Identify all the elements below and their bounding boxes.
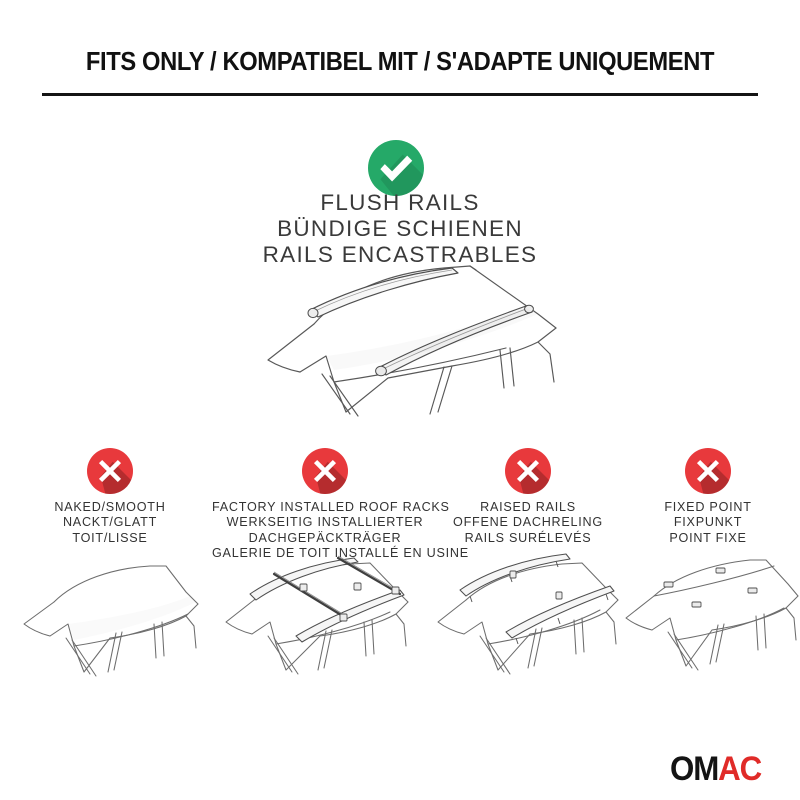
- option-label-line-fr: POINT FIXE: [622, 531, 794, 546]
- flush-rails-label-de: BÜNDIGE SCHIENEN: [0, 216, 800, 242]
- car-roof-bare-illustration: [10, 560, 210, 680]
- check-circle-icon: [368, 140, 424, 196]
- x-circle-icon: [685, 448, 731, 494]
- option-label-line-en: FIXED POINT: [622, 500, 794, 515]
- option-naked-smooth-label: NAKED/SMOOTH NACKT/GLATT TOIT/LISSE: [6, 500, 214, 546]
- page-title: FITS ONLY / KOMPATIBEL MIT / S'ADAPTE UN…: [28, 48, 772, 77]
- option-label-line-de: FIXPUNKT: [622, 515, 794, 530]
- flush-rails-label: FLUSH RAILS BÜNDIGE SCHIENEN RAILS ENCAS…: [0, 190, 800, 268]
- option-label-line-de: NACKT/GLATT: [6, 515, 214, 530]
- option-raised-rails-label: RAISED RAILS OFFENE DACHRELING RAILS SUR…: [434, 500, 622, 546]
- option-label-line-de-1: WERKSEITIG INSTALLIERTER: [212, 515, 438, 530]
- x-circle-icon: [505, 448, 551, 494]
- option-label-line-en: NAKED/SMOOTH: [6, 500, 214, 515]
- omac-logo-dark-part: OM: [670, 752, 718, 786]
- car-roof-with-raised-rails-illustration: [426, 544, 630, 680]
- car-roof-with-crossbars-illustration: [214, 544, 430, 680]
- flush-rails-label-en: FLUSH RAILS: [0, 190, 800, 216]
- compatibility-infographic: FITS ONLY / KOMPATIBEL MIT / S'ADAPTE UN…: [0, 0, 800, 800]
- x-icon-glyph: [685, 448, 731, 494]
- title-divider: [42, 93, 758, 96]
- x-icon-glyph: [505, 448, 551, 494]
- option-fixed-point-label: FIXED POINT FIXPUNKT POINT FIXE: [622, 500, 794, 546]
- car-roof-with-flush-rails-illustration: [238, 262, 582, 430]
- x-circle-icon: [87, 448, 133, 494]
- x-circle-icon: [302, 448, 348, 494]
- option-label-line-en: RAISED RAILS: [434, 500, 622, 515]
- x-icon-glyph: [302, 448, 348, 494]
- omac-logo-red-part: AC: [718, 752, 761, 786]
- option-label-line-en: FACTORY INSTALLED ROOF RACKS: [212, 500, 438, 515]
- check-icon-glyph: [368, 140, 424, 196]
- option-label-line-de: OFFENE DACHRELING: [434, 515, 622, 530]
- option-label-line-fr: TOIT/LISSE: [6, 531, 214, 546]
- car-roof-with-fixed-points-illustration: [614, 550, 800, 680]
- omac-logo: OM AC: [670, 752, 761, 786]
- x-icon-glyph: [87, 448, 133, 494]
